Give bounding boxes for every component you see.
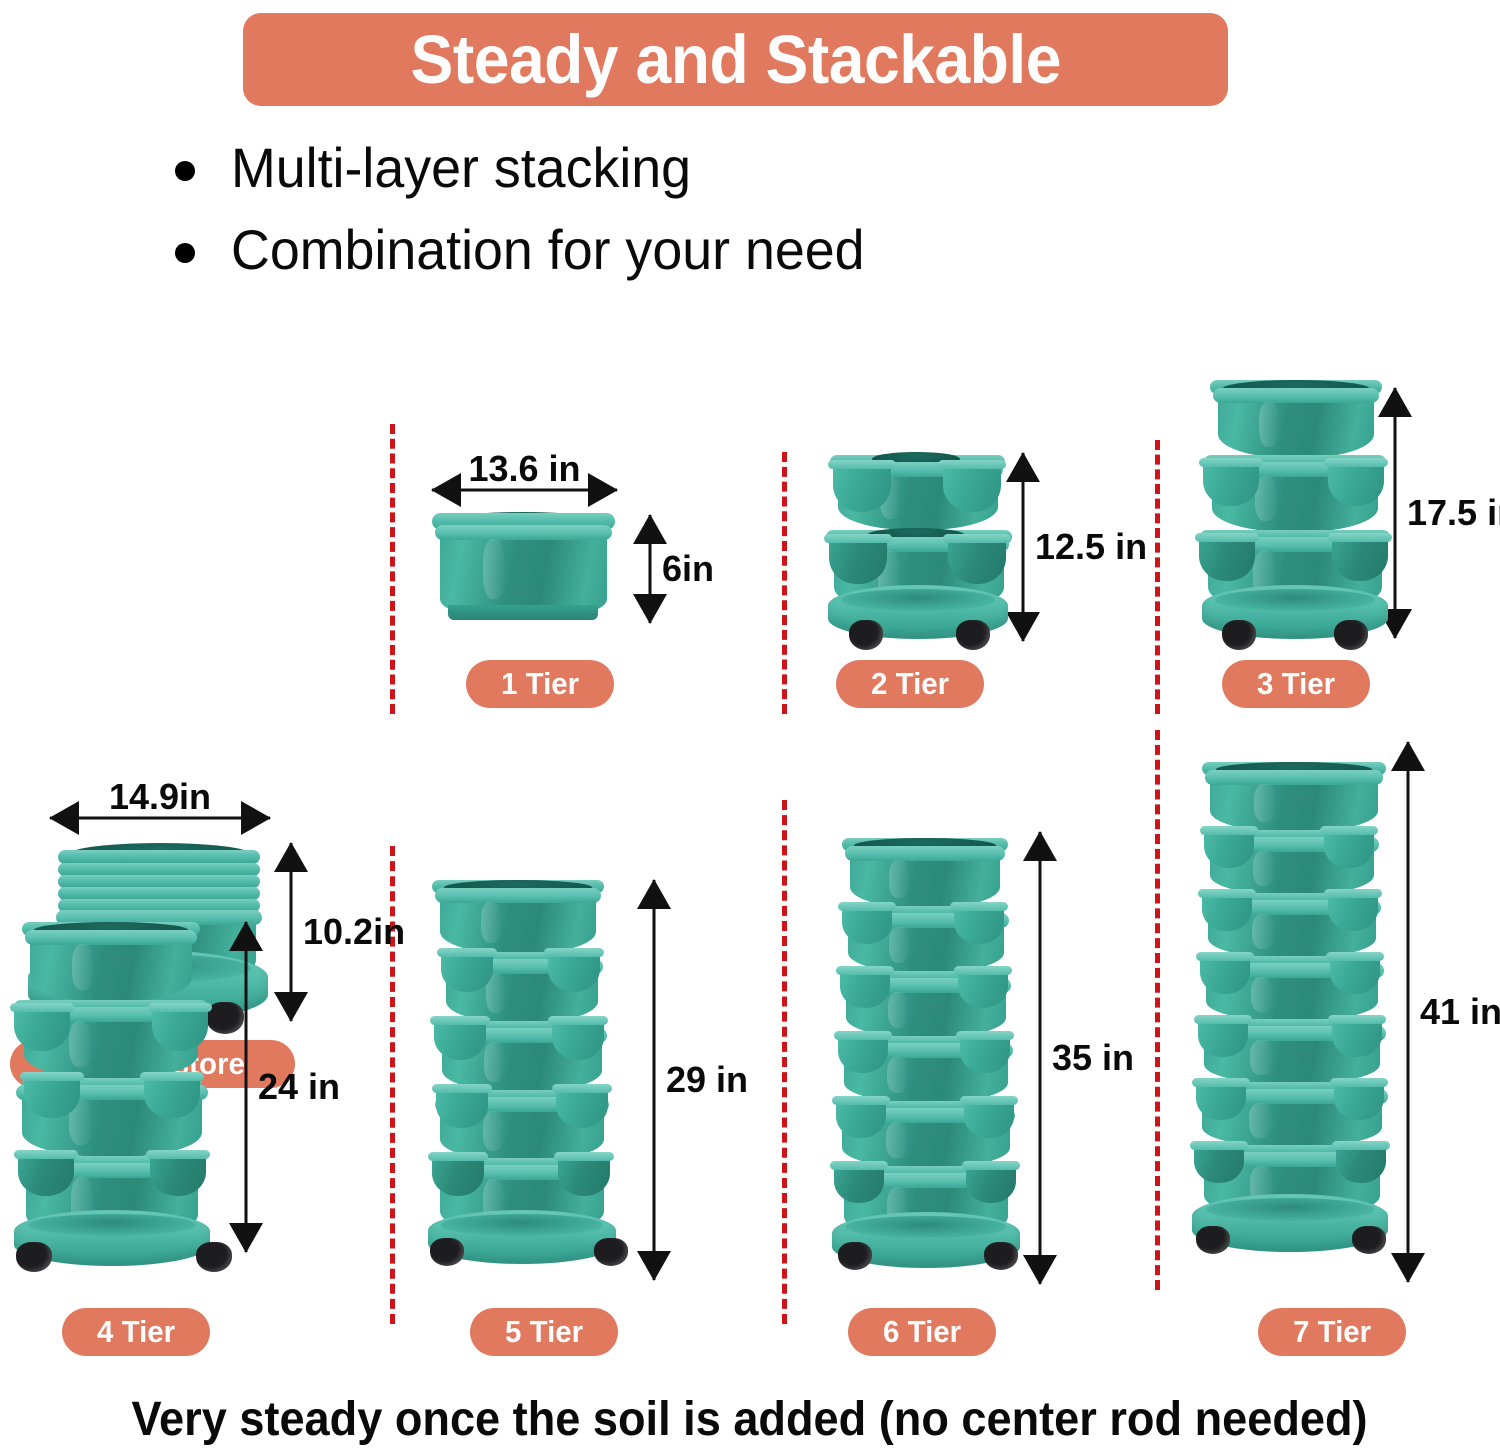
- product-badge-7-tier[interactable]: 7 Tier: [1258, 1308, 1406, 1356]
- side-planting-cup: [1194, 1141, 1244, 1183]
- side-planting-cup: [1334, 1078, 1384, 1120]
- planter-stack-7-tier: [0, 0, 1500, 1456]
- side-planting-cup: [1324, 826, 1374, 868]
- caddy-wheel: [1352, 1226, 1386, 1254]
- side-planting-cup: [1196, 1078, 1246, 1120]
- side-planting-cup: [1336, 1141, 1386, 1183]
- side-planting-cup: [1202, 889, 1252, 931]
- side-planting-cup: [1330, 952, 1380, 994]
- product-badge-label: 7 Tier: [1293, 1314, 1371, 1350]
- footer-caption: Very steady once the soil is added (no c…: [0, 1392, 1500, 1447]
- side-planting-cup: [1198, 1015, 1248, 1057]
- caddy-wheel: [1196, 1226, 1230, 1254]
- side-planting-cup: [1328, 889, 1378, 931]
- footer-caption-text: Very steady once the soil is added (no c…: [132, 1392, 1368, 1447]
- side-planting-cup: [1204, 826, 1254, 868]
- infographic-root: Steady and Stackable Multi-layer stackin…: [0, 0, 1500, 1456]
- side-planting-cup: [1332, 1015, 1382, 1057]
- planter-pot: [1210, 770, 1378, 832]
- side-planting-cup: [1200, 952, 1250, 994]
